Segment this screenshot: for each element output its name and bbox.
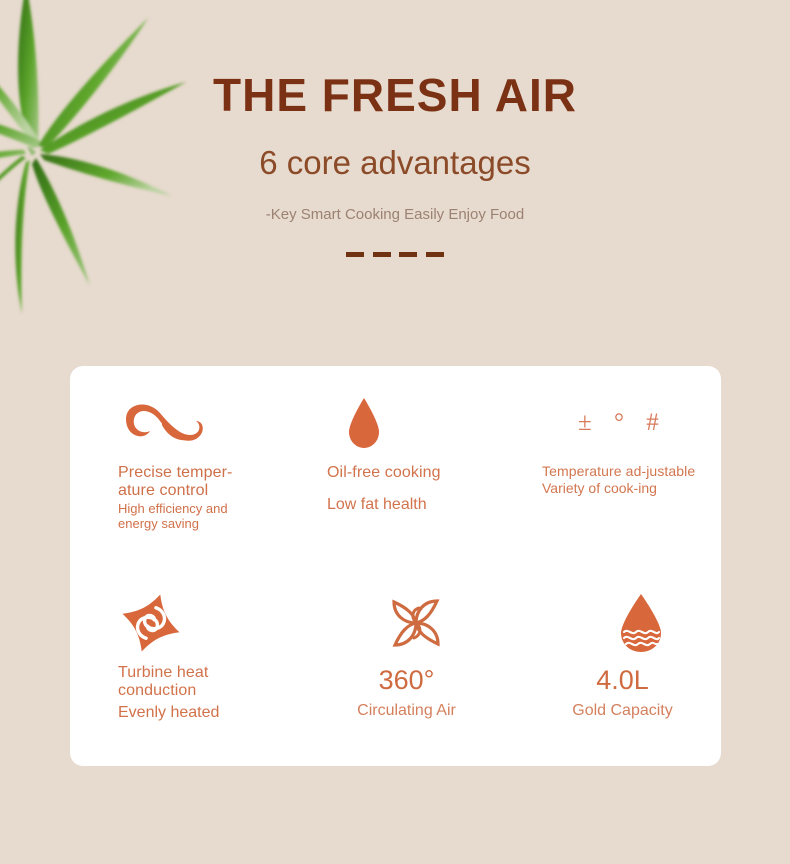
feature-secondary-label: Evenly heated: [118, 704, 269, 722]
symbol-glyphs: ± ° #: [578, 409, 667, 437]
feature-primary-label: Turbine heat conduction: [118, 664, 269, 700]
feature-secondary-label: Variety of cook-ing: [542, 481, 703, 497]
feature-text: Precise temper-ature control High effici…: [118, 464, 269, 532]
divider-dash: [426, 252, 444, 257]
feature-text: Turbine heat conduction Evenly heated: [118, 664, 269, 723]
divider-dash: [373, 252, 391, 257]
page-title: THE FRESH AIR: [0, 0, 790, 122]
feature-primary-label: Oil-free cooking: [327, 464, 486, 482]
feature-item-oil-free-cooking[interactable]: Oil-free cooking Low fat health: [287, 366, 504, 566]
divider-dash: [399, 252, 417, 257]
feature-value: 4.0L: [542, 664, 703, 696]
water-drop-waves-icon: [542, 592, 703, 654]
feature-caption: Gold Capacity: [542, 700, 703, 722]
dash-divider: [346, 224, 444, 257]
feature-card: Precise temper-ature control High effici…: [70, 366, 721, 766]
page-subtitle: 6 core advantages: [0, 122, 790, 182]
plus-minus-degree-hash-icon: ± ° #: [542, 392, 703, 454]
feature-text: 360° Circulating Air: [327, 664, 486, 722]
feature-caption: Circulating Air: [327, 700, 486, 722]
feature-item-temperature-adjustable[interactable]: ± ° # Temperature ad-justable Variety of…: [504, 366, 721, 566]
oil-drop-icon: [327, 392, 486, 454]
feature-primary-label: Precise temper-ature control: [118, 464, 269, 500]
feature-item-circulating-air[interactable]: 360° Circulating Air: [287, 566, 504, 766]
feature-item-precise-temperature-control[interactable]: Precise temper-ature control High effici…: [70, 366, 287, 566]
feature-item-gold-capacity[interactable]: 4.0L Gold Capacity: [504, 566, 721, 766]
turbine-pinwheel-icon: [118, 592, 269, 654]
feature-secondary-label: High efficiency and energy saving: [118, 502, 269, 532]
feature-primary-label: Temperature ad-justable: [542, 464, 703, 480]
feature-secondary-label: Low fat health: [327, 496, 486, 514]
divider-dash: [346, 252, 364, 257]
feature-value: 360°: [327, 664, 486, 696]
page-header: THE FRESH AIR 6 core advantages -Key Sma…: [0, 0, 790, 257]
feature-item-turbine-heat-conduction[interactable]: Turbine heat conduction Evenly heated: [70, 566, 287, 766]
feature-text: Oil-free cooking Low fat health: [327, 464, 486, 514]
feature-text: Temperature ad-justable Variety of cook-…: [542, 464, 703, 497]
feature-grid: Precise temper-ature control High effici…: [70, 366, 721, 766]
air-vortex-icon: [327, 592, 486, 654]
wave-flourish-icon: [118, 392, 269, 454]
page-tagline: -Key Smart Cooking Easily Enjoy Food: [0, 182, 790, 224]
feature-text: 4.0L Gold Capacity: [542, 664, 703, 722]
